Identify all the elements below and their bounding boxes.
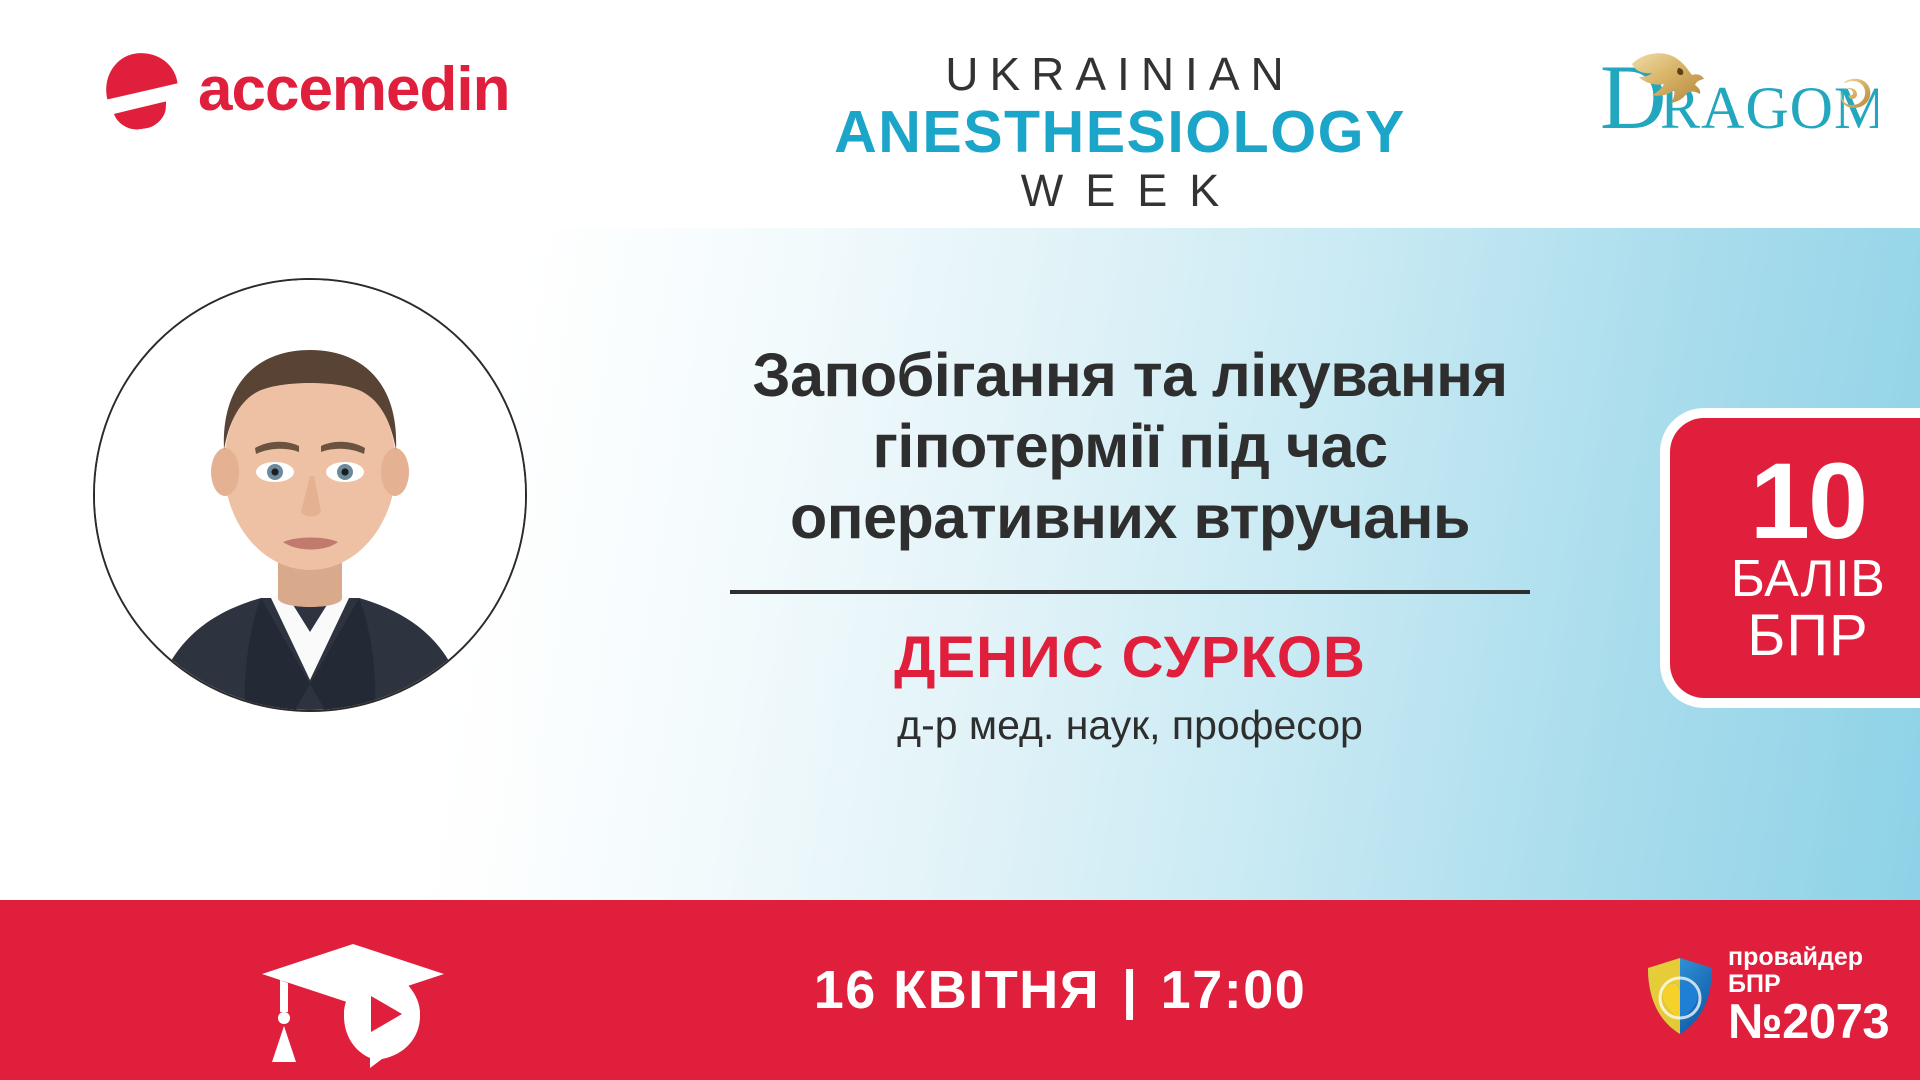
event-logo-line-ukrainian: UKRAINIAN [830,50,1410,99]
points-badge: 10 БАЛІВ БПР [1660,408,1920,708]
event-logo: UKRAINIAN ANESTHESIOLOGY WEEK [830,50,1410,215]
title-speaker-divider [730,590,1530,594]
talk-title-line-2: гіпотермії під час [640,411,1620,482]
accemedin-wordmark: accemedin [198,59,510,121]
datetime-separator: | [1122,959,1139,1021]
event-logo-line-anesthesiology: ANESTHESIOLOGY [830,101,1410,164]
points-scheme: БПР [1747,607,1868,665]
accemedin-logo[interactable]: accemedin [104,42,504,138]
speaker-role: д-р мед. наук, професор [640,703,1620,748]
provider-label: провайдер БПР [1728,944,1910,997]
talk-block: Запобігання та лікування гіпотермії під … [640,340,1620,748]
points-number: 10 [1750,451,1866,550]
talk-title: Запобігання та лікування гіпотермії під … [640,340,1620,552]
provider-badge: провайдер БПР №2073 [1640,948,1910,1043]
dragomed-logo[interactable]: D RAGOME [1598,42,1878,134]
shield-heart-icon [1640,954,1718,1038]
speaker-photo [95,280,525,710]
speaker-portrait [93,278,527,712]
event-logo-line-week: WEEK [830,167,1410,215]
talk-title-line-1: Запобігання та лікування [640,340,1620,411]
graduation-cap-play-icon [258,938,448,1068]
points-unit: БАЛІВ [1731,553,1886,605]
accemedin-droplet-icon [104,51,180,129]
speaker-name: ДЕНИС СУРКОВ [640,628,1620,689]
webinar-announcement-banner: accemedin UKRAINIAN ANESTHESIOLOGY WEEK … [0,0,1920,1080]
talk-title-line-3: оперативних втручань [640,482,1620,553]
dragomed-logo-graphic: D RAGOME [1598,42,1878,134]
provider-number: №2073 [1728,998,1910,1047]
event-datetime: 16 КВІТНЯ | 17:00 [660,900,1460,1080]
event-date: 16 КВІТНЯ [814,959,1100,1021]
event-time: 17:00 [1161,959,1307,1021]
